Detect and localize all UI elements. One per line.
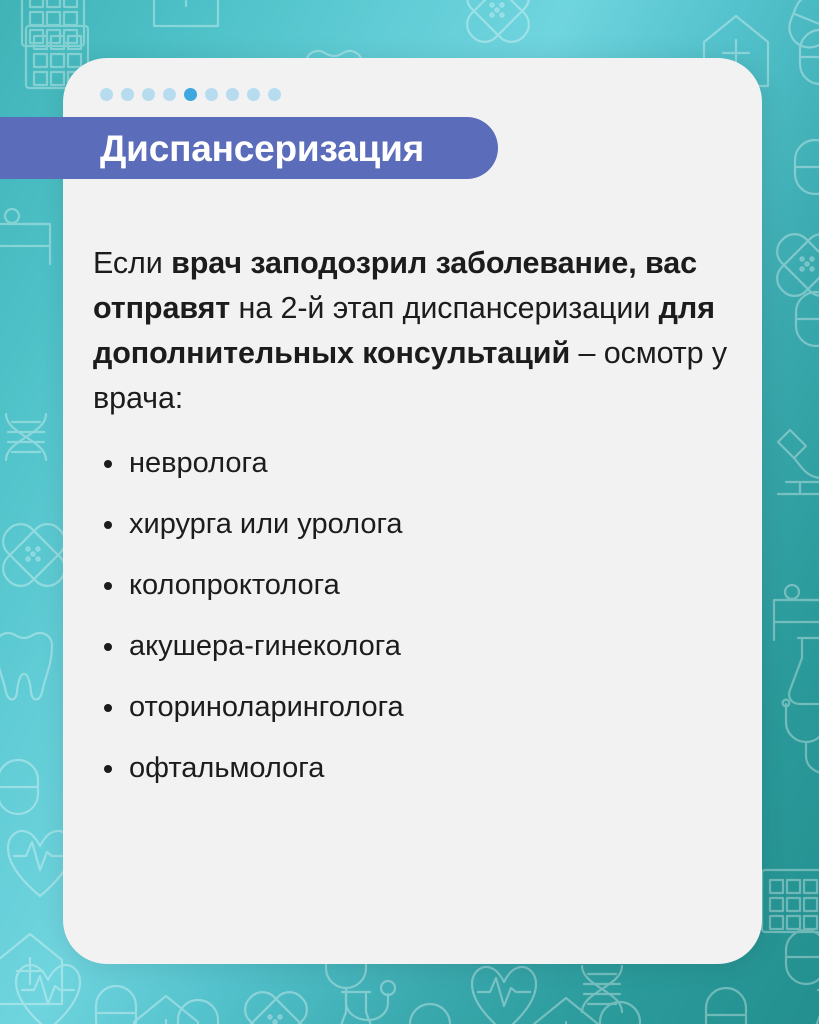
list-item: акушера-гинеколога — [97, 626, 717, 667]
list-item-label: невролога — [129, 447, 268, 479]
list-item-label: оториноларинголога — [129, 691, 404, 723]
bullet-icon — [104, 460, 112, 468]
list-item-label: колопроктолога — [129, 569, 340, 601]
bullet-icon — [104, 643, 112, 651]
doctor-specialties-list: невролога хирурга или уролога колопрокто… — [97, 443, 717, 809]
list-item: офтальмолога — [97, 748, 717, 789]
bullet-icon — [104, 704, 112, 712]
list-item-label: офтальмолога — [129, 752, 324, 784]
list-item: невролога — [97, 443, 717, 484]
pagination-dot-3[interactable] — [142, 88, 155, 101]
slide-root: Диспансеризация Если врач заподозрил заб… — [0, 0, 819, 1024]
bullet-icon — [104, 582, 112, 590]
intro-paragraph: Если врач заподозрил заболевание, вас от… — [93, 241, 763, 421]
pagination-dot-7[interactable] — [226, 88, 239, 101]
pagination-dot-8[interactable] — [247, 88, 260, 101]
pagination-dot-2[interactable] — [121, 88, 134, 101]
pagination-dots[interactable] — [100, 88, 281, 101]
list-item-label: хирурга или уролога — [129, 508, 403, 540]
title-badge: Диспансеризация — [0, 117, 498, 179]
bullet-icon — [104, 521, 112, 529]
pagination-dot-9[interactable] — [268, 88, 281, 101]
pagination-dot-5-active[interactable] — [184, 88, 197, 101]
list-item: оториноларинголога — [97, 687, 717, 728]
bullet-icon — [104, 765, 112, 773]
pagination-dot-1[interactable] — [100, 88, 113, 101]
pagination-dot-6[interactable] — [205, 88, 218, 101]
paragraph-part-2: на 2-й этап диспансеризации — [230, 291, 659, 325]
pagination-dot-4[interactable] — [163, 88, 176, 101]
list-item-label: акушера-гинеколога — [129, 630, 401, 662]
paragraph-part-1: Если — [93, 246, 171, 280]
page-title: Диспансеризация — [0, 130, 424, 167]
list-item: хирурга или уролога — [97, 504, 717, 545]
list-item: колопроктолога — [97, 565, 717, 606]
